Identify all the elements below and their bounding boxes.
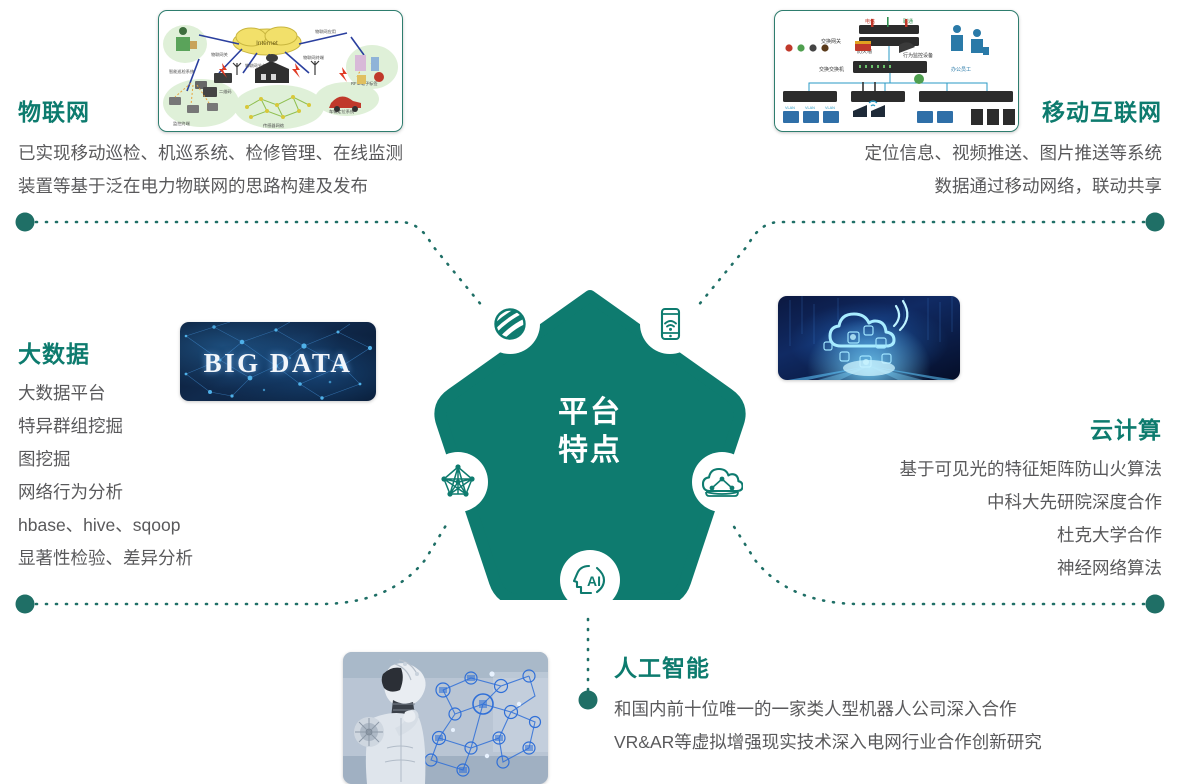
svg-text:物联网终端: 物联网终端	[303, 54, 324, 61]
section-cloud-computing-title: 云计算	[700, 418, 1162, 443]
section-big-data-line-2: 图挖掘	[18, 443, 358, 476]
svg-text:物联网应用: 物联网应用	[315, 28, 336, 35]
ai-head-icon: AI	[570, 560, 610, 600]
svg-text:智能巡检系统: 智能巡检系统	[169, 68, 194, 75]
connector-endpoint-dot	[16, 213, 35, 232]
section-mobile-internet: 移动互联网 定位信息、视频推送、图片推送等系统 数据通过移动网络，联动共享	[640, 100, 1162, 203]
section-iot-line-0: 已实现移动巡检、机巡系统、检修管理、在线监测	[18, 137, 538, 170]
section-ai-title: 人工智能	[614, 656, 1174, 681]
section-cloud-computing-line-1: 中科大先研院深度合作	[700, 486, 1162, 519]
svg-text:AI: AI	[587, 573, 601, 589]
cloud-computing-thumb	[778, 296, 960, 380]
section-cloud-computing: 云计算 基于可见光的特征矩阵防山火算法 中科大先研院深度合作 杜克大学合作 神经…	[700, 418, 1162, 585]
network-graph-icon-badge[interactable]	[428, 452, 488, 512]
center-label-line1: 平台	[558, 396, 622, 429]
section-cloud-computing-line-2: 杜克大学合作	[700, 519, 1162, 552]
section-cloud-computing-line-0: 基于可见光的特征矩阵防山火算法	[700, 453, 1162, 486]
robot-thumb	[343, 652, 548, 784]
section-mobile-internet-line-1: 数据通过移动网络，联动共享	[640, 170, 1162, 203]
svg-text:物联网关: 物联网关	[211, 51, 228, 58]
infographic-canvas: Internet 物联网关 物联网节点 物联网终端 物联网应用 智能巡检系统 二…	[0, 0, 1180, 784]
section-iot-title: 物联网	[18, 100, 538, 125]
svg-text:行为监控设备: 行为监控设备	[903, 52, 933, 59]
connector-endpoint-dot	[16, 595, 35, 614]
connector-endpoint-dot	[579, 691, 598, 710]
section-iot-line-1: 装置等基于泛在电力物联网的思路构建及发布	[18, 170, 538, 203]
section-ai: 人工智能 和国内前十位唯一的一家类人型机器人公司深入合作 VR&AR等虚拟增强现…	[614, 656, 1174, 759]
iot-globe-icon	[490, 304, 530, 344]
ai-head-icon-badge[interactable]: AI	[560, 550, 620, 610]
svg-text:办公员工: 办公员工	[951, 66, 971, 73]
section-ai-line-0: 和国内前十位唯一的一家类人型机器人公司深入合作	[614, 693, 1174, 726]
center-label-line2: 特点	[558, 434, 622, 467]
svg-text:二维码: 二维码	[219, 88, 232, 95]
svg-text:交换网关: 交换网关	[821, 38, 841, 45]
iot-globe-icon-badge[interactable]	[480, 294, 540, 354]
connector-endpoint-dot	[1146, 213, 1165, 232]
section-big-data-line-0: 大数据平台	[18, 377, 358, 410]
svg-text:交换交换机: 交换交换机	[819, 66, 844, 73]
section-big-data-line-3: 网络行为分析	[18, 476, 358, 509]
section-big-data: 大数据 大数据平台 特异群组挖掘 图挖掘 网络行为分析 hbase、hive、s…	[18, 342, 358, 575]
mobile-wifi-icon	[650, 304, 690, 344]
section-big-data-line-4: hbase、hive、sqoop	[18, 509, 358, 542]
section-ai-line-1: VR&AR等虚拟增强现实技术深入电网行业合作创新研究	[614, 726, 1174, 759]
svg-text:联通: 联通	[903, 18, 913, 25]
network-graph-icon	[438, 462, 478, 502]
section-big-data-line-1: 特异群组挖掘	[18, 410, 358, 443]
connector-endpoint-dot	[1146, 595, 1165, 614]
section-mobile-internet-title: 移动互联网	[640, 100, 1162, 125]
section-big-data-line-5: 显著性检验、差异分析	[18, 542, 358, 575]
section-mobile-internet-line-0: 定位信息、视频推送、图片推送等系统	[640, 137, 1162, 170]
section-iot: 物联网 已实现移动巡检、机巡系统、检修管理、在线监测 装置等基于泛在电力物联网的…	[18, 100, 538, 203]
svg-text:电信: 电信	[865, 18, 875, 25]
section-big-data-title: 大数据	[18, 342, 358, 367]
mobile-wifi-icon-badge[interactable]	[640, 294, 700, 354]
svg-text:Internet: Internet	[256, 40, 278, 47]
section-cloud-computing-line-3: 神经网络算法	[700, 552, 1162, 585]
